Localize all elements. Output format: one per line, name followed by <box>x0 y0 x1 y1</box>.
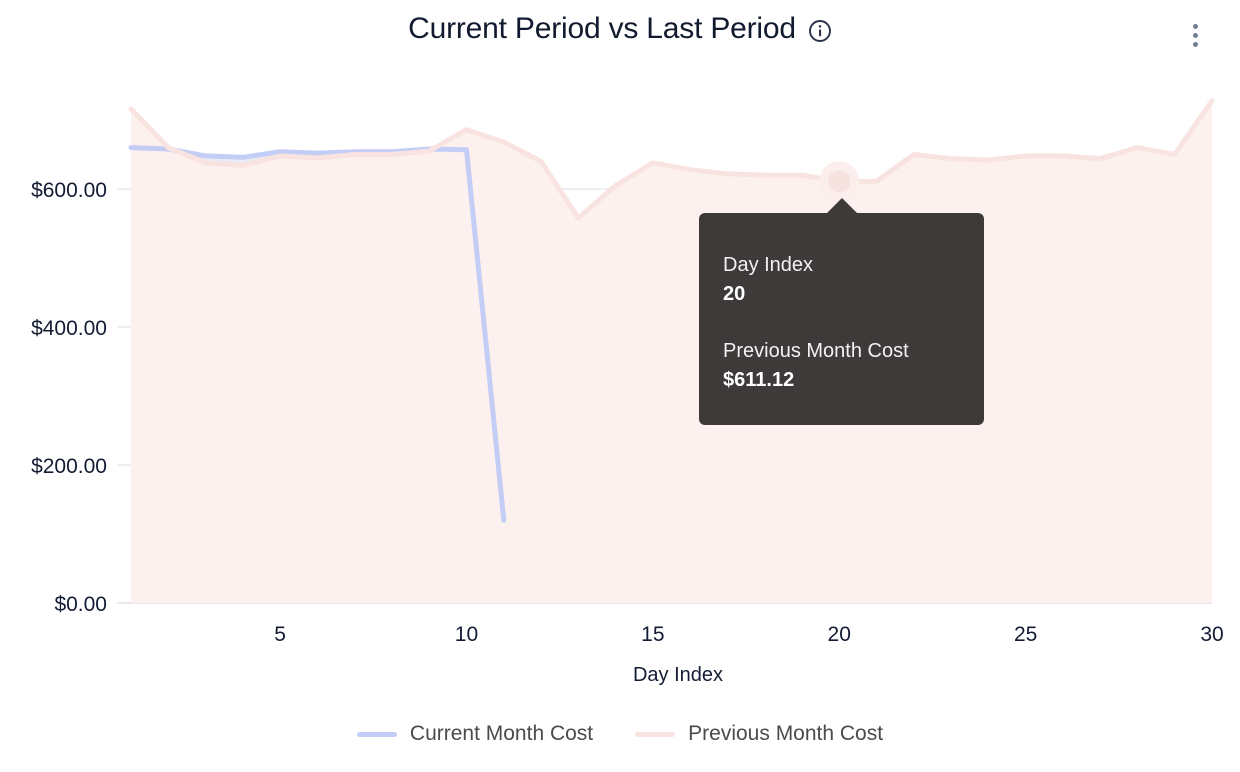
plot-area[interactable]: $0.00$200.00$400.00$600.00 51015202530 D… <box>0 0 1240 700</box>
x-tick-label: 15 <box>641 623 664 646</box>
x-axis-labels: 51015202530 <box>274 623 1223 646</box>
y-tick-label: $600.00 <box>31 179 107 202</box>
legend-item-current[interactable]: Current Month Cost <box>357 722 593 746</box>
legend-swatch-previous <box>635 732 675 737</box>
chart-svg[interactable]: $0.00$200.00$400.00$600.00 51015202530 D… <box>0 0 1240 700</box>
chart-legend: Current Month Cost Previous Month Cost <box>0 722 1240 746</box>
chart-card: Current Period vs Last Period $0.00$200.… <box>0 0 1240 772</box>
y-tick-label: $200.00 <box>31 455 107 478</box>
highlight-marker <box>819 161 859 201</box>
x-tick-label: 25 <box>1014 623 1037 646</box>
x-tick-label: 10 <box>455 623 478 646</box>
legend-label-previous: Previous Month Cost <box>688 722 883 746</box>
y-tick-label: $400.00 <box>31 317 107 340</box>
x-tick-label: 30 <box>1200 623 1223 646</box>
y-tick-label: $0.00 <box>54 593 107 616</box>
x-axis-title: Day Index <box>633 664 723 686</box>
y-axis-labels: $0.00$200.00$400.00$600.00 <box>31 179 107 616</box>
legend-swatch-current <box>357 732 397 737</box>
legend-item-previous[interactable]: Previous Month Cost <box>635 722 883 746</box>
x-tick-label: 5 <box>274 623 286 646</box>
legend-label-current: Current Month Cost <box>410 722 593 746</box>
series-areas <box>131 101 1212 603</box>
x-tick-label: 20 <box>828 623 851 646</box>
